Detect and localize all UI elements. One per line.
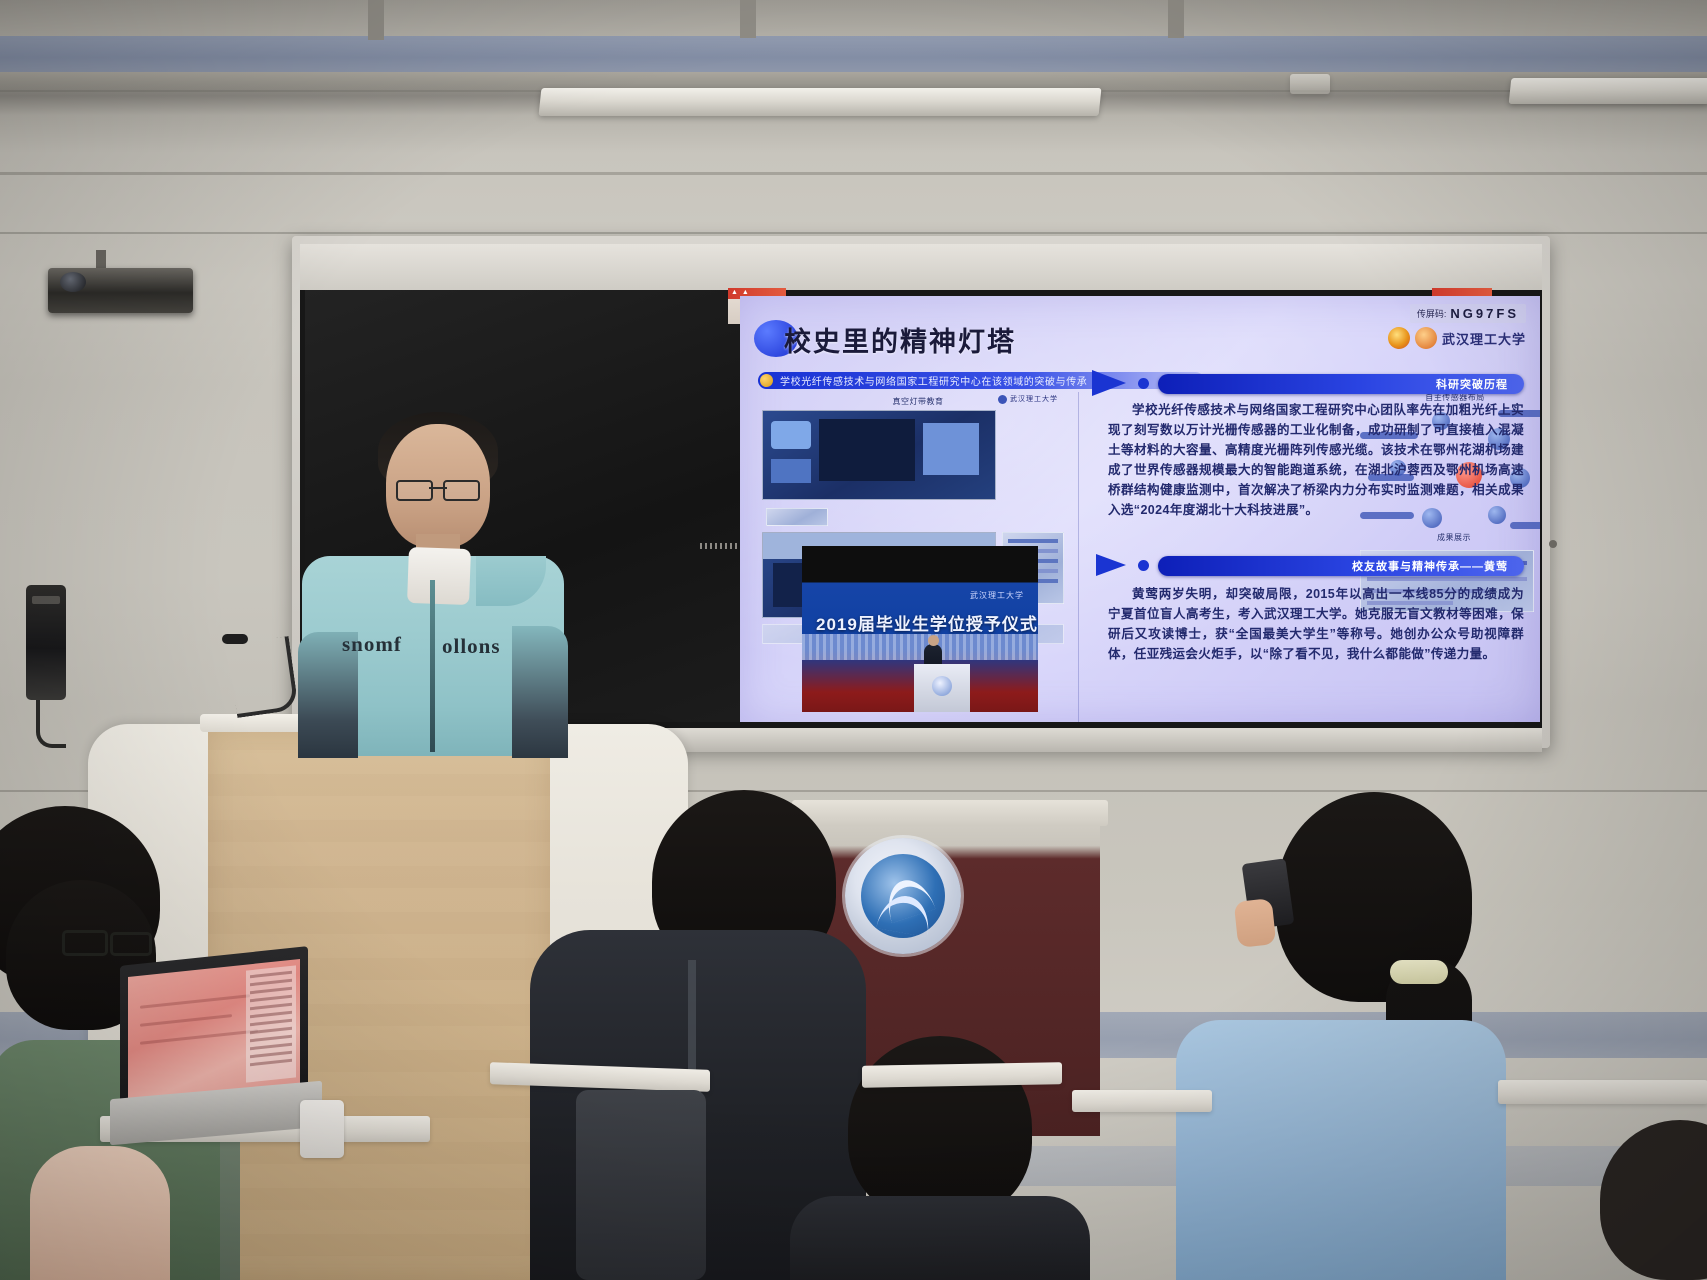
slide-subtitle-text: 学校光纤传感技术与网络国家工程研究中心在该领域的突破与传承	[780, 373, 1087, 388]
microphone-icon	[222, 634, 248, 644]
section-heading-2: 校友故事与精神传承——黄莺	[1158, 556, 1524, 576]
video-inset-podium-seal-icon	[932, 676, 952, 696]
presenter-glasses-icon	[396, 480, 480, 498]
section-arrow-icon	[1092, 370, 1126, 396]
ceiling-light	[1509, 78, 1707, 104]
section-dot-icon	[1138, 560, 1149, 571]
chair-back	[576, 1090, 706, 1280]
student-desk	[862, 1062, 1062, 1087]
podium-emblem	[845, 838, 961, 954]
classroom-photo-scene: ▲ ▲ 校史里的精神灯塔 传屏码: NG97FS 武汉理工大学 学校光纤传感技术…	[0, 0, 1707, 1280]
section-body-2: 黄莺两岁失明，却突破局限，2015年以高出一本线85分的成绩成为宁夏首位盲人高考…	[1108, 584, 1524, 664]
slide-video-inset[interactable]: 武汉理工大学 2019届毕业生学位授予仪式	[802, 546, 1038, 712]
section-heading-1-text: 科研突破历程	[1436, 376, 1508, 392]
poster-thumbnail	[762, 410, 996, 500]
cast-code-value: NG97FS	[1450, 306, 1519, 321]
display-top-trim	[300, 244, 1542, 290]
presenter-zipper	[430, 580, 435, 752]
audience-head	[30, 1146, 170, 1280]
ceiling-beam	[740, 0, 756, 38]
ceiling-light	[539, 88, 1102, 116]
section-body-1: 学校光纤传感技术与网络国家工程研究中心团队率先在加粗光纤上实现了刻写数以万计光栅…	[1108, 400, 1524, 520]
audience-body	[790, 1196, 1090, 1280]
cast-code-label: 传屏码:	[1417, 307, 1447, 320]
wall-phone-button[interactable]	[32, 596, 60, 604]
hair-tie	[1390, 960, 1448, 984]
presenter-sleeve-right	[512, 626, 568, 758]
presentation-slide[interactable]: 校史里的精神灯塔 传屏码: NG97FS 武汉理工大学 学校光纤传感技术与网络国…	[740, 296, 1540, 722]
student-desk	[1498, 1080, 1707, 1104]
video-inset-title: 2019届毕业生学位授予仪式	[816, 610, 1038, 635]
ceiling-beam	[368, 0, 384, 40]
slide-divider	[1078, 392, 1079, 722]
poster-caption-strip	[766, 508, 828, 526]
poster-label-left: 真空灯带教育	[848, 396, 988, 407]
video-inset-subtitle: 武汉理工大学	[970, 590, 1024, 601]
university-crest-icon	[1388, 327, 1410, 349]
wall-phone-cord	[36, 700, 66, 748]
ceiling-beam	[1168, 0, 1184, 38]
subtitle-bullet-icon	[760, 374, 773, 387]
section-heading-2-text: 校友故事与精神传承——黄莺	[1352, 558, 1508, 574]
university-name: 武汉理工大学	[1442, 329, 1526, 348]
presenter-collar	[407, 547, 471, 605]
phone-on-desk[interactable]	[300, 1100, 344, 1158]
section-heading-1: 科研突破历程	[1158, 374, 1524, 394]
screen-cast-code: 传屏码: NG97FS	[1410, 304, 1526, 323]
video-inset-speaker-head	[928, 635, 939, 646]
presenter-jacket-text-left: snomf	[342, 632, 402, 657]
hand	[1234, 898, 1277, 948]
audience-body	[1176, 1020, 1506, 1280]
section-arrow-icon	[1096, 554, 1126, 576]
ceiling-light	[1290, 74, 1330, 94]
university-logo: 武汉理工大学	[1388, 327, 1526, 349]
video-inset-audience	[802, 634, 1038, 660]
poster-logo: 武汉理工大学	[998, 394, 1058, 404]
wall-seam	[0, 232, 1707, 234]
laptop-screen-side-panel	[246, 965, 296, 1082]
podium-emblem-inner-icon	[861, 854, 945, 938]
wall-seam	[0, 172, 1707, 175]
slide-title: 校史里的精神灯塔	[784, 320, 1016, 359]
university-crest-secondary-icon	[1415, 327, 1437, 349]
microphone-stand	[227, 636, 299, 718]
ceiling-band	[0, 0, 1707, 40]
video-inset-podium	[914, 664, 970, 712]
lectern-desk-top	[792, 800, 1108, 826]
slide-subtitle-banner: 学校光纤传感技术与网络国家工程研究中心在该领域的突破与传承	[758, 372, 1204, 389]
wall-stripe-upper	[0, 36, 1707, 72]
student-desk	[1072, 1090, 1212, 1112]
laptop-screen[interactable]	[128, 959, 300, 1105]
section-dot-icon	[1138, 378, 1149, 389]
presenter-jacket-text-right: ollons	[442, 634, 501, 659]
projector-lens-icon	[60, 272, 86, 292]
audience-glasses-icon	[62, 930, 152, 952]
